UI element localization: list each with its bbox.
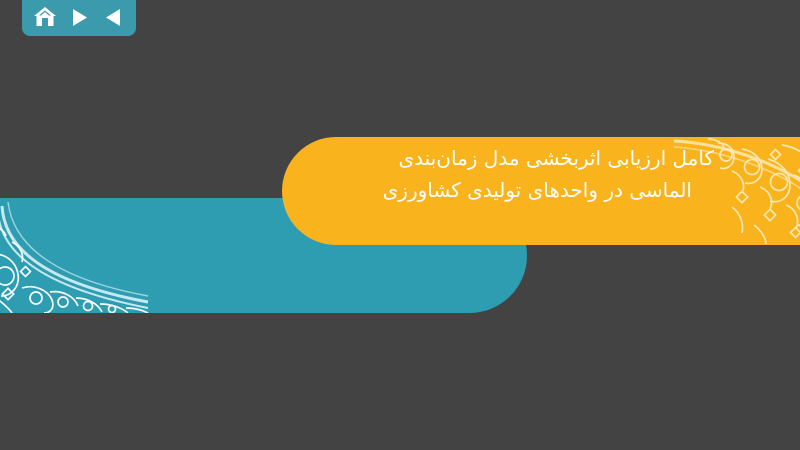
triangle-left-icon	[105, 8, 122, 27]
home-button[interactable]	[31, 4, 59, 30]
slide-title: کامل ارزیابی اثربخشی مدل زمان‌بندی الماس…	[294, 142, 714, 206]
title-banner: کامل ارزیابی اثربخشی مدل زمان‌بندی الماس…	[282, 137, 800, 245]
triangle-right-icon	[71, 8, 88, 27]
slide-navigation-bar	[22, 0, 136, 36]
presentation-slide: کامل ارزیابی اثربخشی مدل زمان‌بندی الماس…	[0, 0, 800, 450]
title-line-2: الماسی در واحدهای تولیدی کشاورزی	[294, 174, 714, 206]
home-icon	[33, 6, 57, 28]
previous-slide-button[interactable]	[99, 4, 127, 30]
arabesque-ornament-teal	[0, 198, 150, 313]
next-slide-button[interactable]	[65, 4, 93, 30]
title-line-1: کامل ارزیابی اثربخشی مدل زمان‌بندی	[294, 142, 714, 174]
